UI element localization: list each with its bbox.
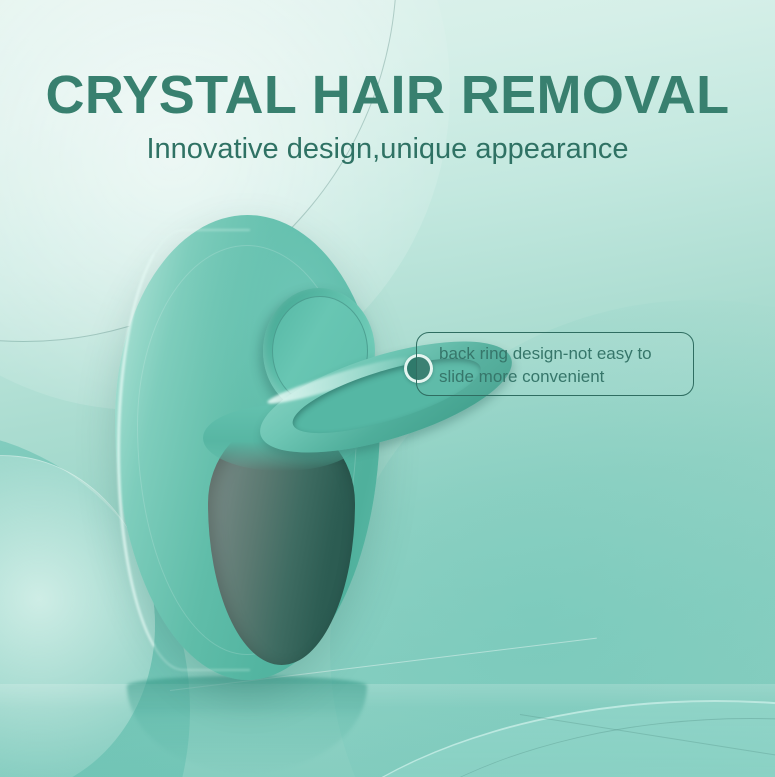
feature-callout-text: back ring design-not easy to slide more … xyxy=(439,342,693,388)
product-image xyxy=(115,215,415,685)
page-title: CRYSTAL HAIR REMOVAL xyxy=(0,64,775,126)
feature-callout: back ring design-not easy to slide more … xyxy=(416,332,694,396)
page-subtitle: Innovative design,unique appearance xyxy=(0,133,775,166)
product-poster: CRYSTAL HAIR REMOVAL Innovative design,u… xyxy=(0,0,775,777)
